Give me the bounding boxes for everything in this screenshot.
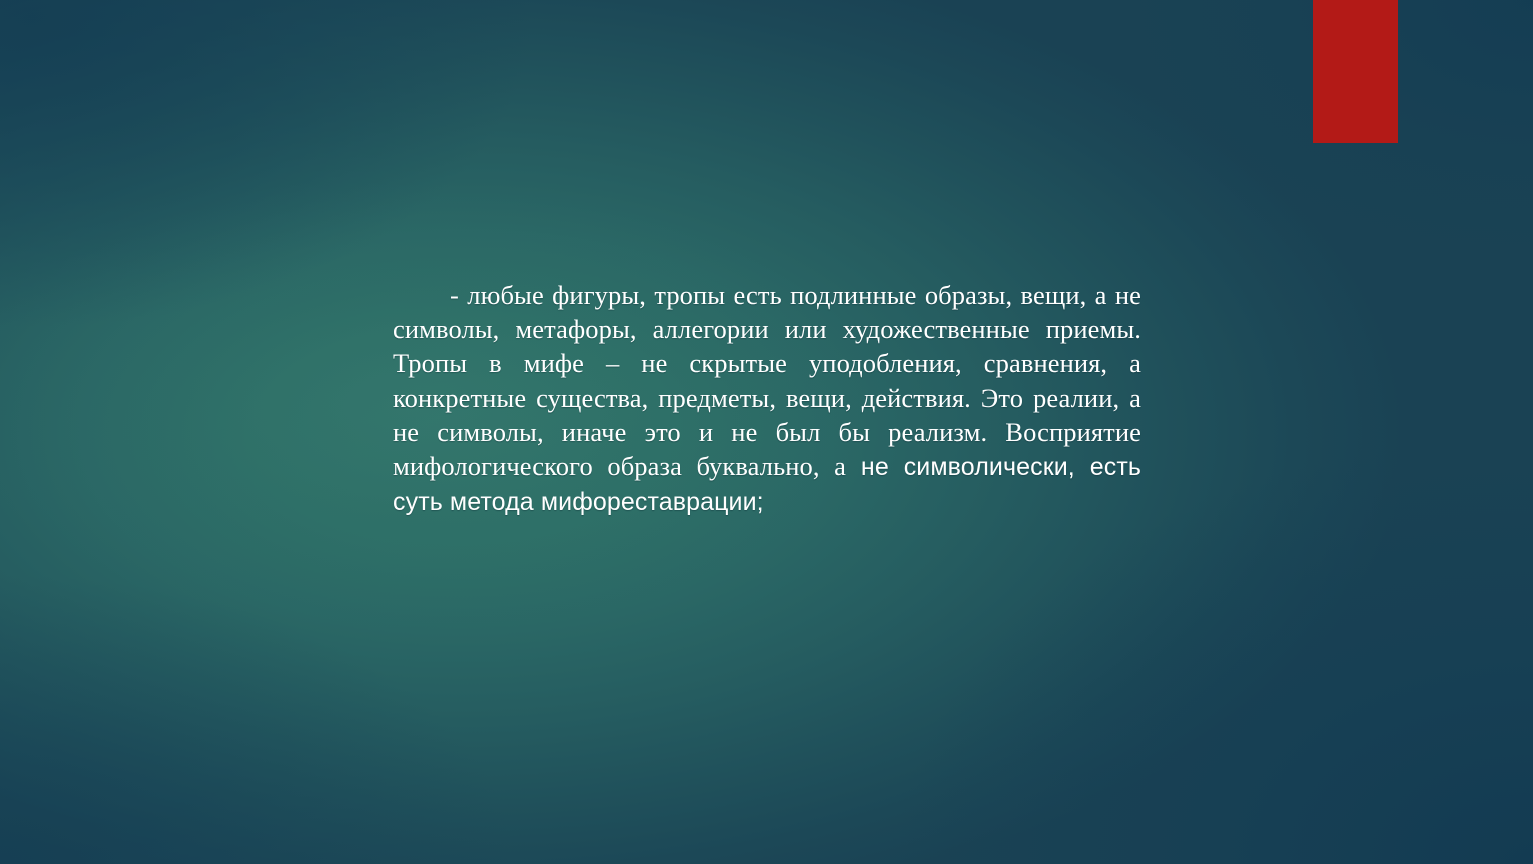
red-accent-rectangle xyxy=(1313,0,1398,143)
slide-body-text: - любые фигуры, тропы есть подлинные обр… xyxy=(393,278,1141,519)
body-paragraph-main: - любые фигуры, тропы есть подлинные обр… xyxy=(393,280,1141,481)
presentation-slide: - любые фигуры, тропы есть подлинные обр… xyxy=(0,0,1533,864)
